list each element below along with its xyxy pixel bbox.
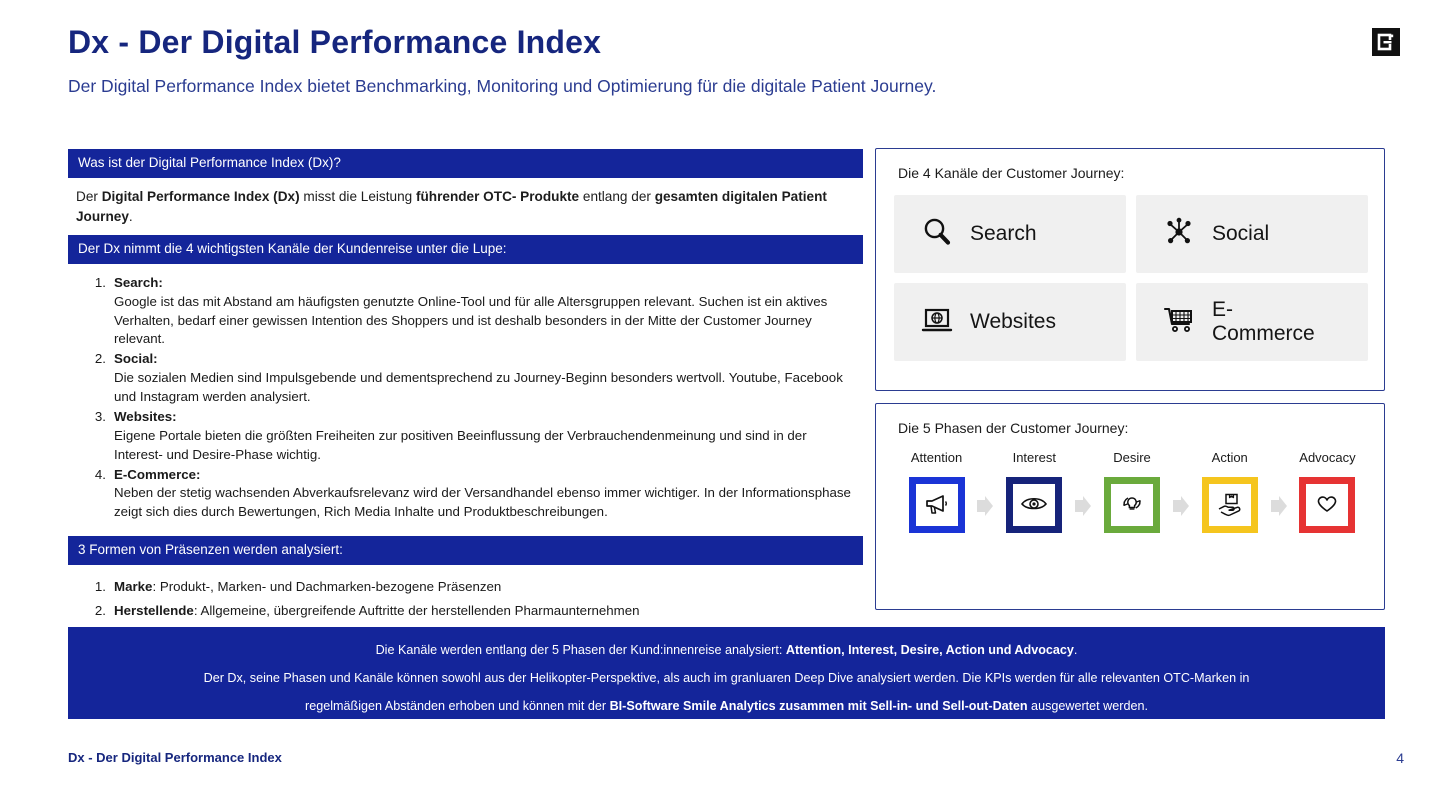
channels-description-list: 1. Search: Google ist das mit Abstand am… xyxy=(68,264,863,529)
banner-line-2: Der Dx, seine Phasen und Kanäle können s… xyxy=(68,664,1385,692)
channels-panel: Die 4 Kanäle der Customer Journey: Searc… xyxy=(875,148,1385,391)
left-content-column: Was ist der Digital Performance Index (D… xyxy=(68,149,863,649)
channel-cell-ecommerce[interactable]: E- Commerce xyxy=(1136,283,1368,361)
channel-label: Websites xyxy=(970,310,1056,334)
section-bar-three-presences: 3 Formen von Präsenzen werden analysiert… xyxy=(68,536,863,565)
list-number: 1. xyxy=(84,274,106,293)
channel-label: Social xyxy=(1212,222,1269,246)
phases-row: Attention Interest xyxy=(876,436,1384,533)
phase-box xyxy=(1006,477,1062,533)
phase-box xyxy=(1299,477,1355,533)
phases-panel-title: Die 5 Phasen der Customer Journey: xyxy=(876,404,1384,436)
phase-item-advocacy[interactable]: Advocacy xyxy=(1289,450,1366,533)
phase-box xyxy=(1202,477,1258,533)
list-item-desc: : Produkt-, Marken- und Dachmarken-bezog… xyxy=(152,579,501,594)
section-bar-four-channels: Der Dx nimmt die 4 wichtigsten Kanäle de… xyxy=(68,235,863,264)
page-subtitle: Der Digital Performance Index bietet Ben… xyxy=(68,76,936,97)
list-number: 2. xyxy=(84,350,106,369)
banner-l3-a: regelmäßigen Abständen erhoben und könne… xyxy=(305,699,610,713)
channel-label: E- Commerce xyxy=(1212,298,1315,345)
section-bar-what-is-dx: Was ist der Digital Performance Index (D… xyxy=(68,149,863,178)
list-item-heading: Social: xyxy=(114,350,859,369)
phase-label: Attention xyxy=(898,450,975,465)
arrow-right-icon xyxy=(975,495,996,533)
banner-l3-c: ausgewertet werden. xyxy=(1028,699,1148,713)
banner-line-1: Die Kanäle werden entlang der 5 Phasen d… xyxy=(68,636,1385,664)
phase-box xyxy=(909,477,965,533)
list-item-body: Eigene Portale bieten die größten Freihe… xyxy=(114,427,859,465)
hand-package-icon xyxy=(1216,489,1244,522)
list-item-heading: E-Commerce: xyxy=(114,466,859,485)
lightbulb-refresh-icon xyxy=(1118,489,1146,522)
list-number: 3. xyxy=(84,408,106,427)
channel-cell-social[interactable]: Social xyxy=(1136,195,1368,273)
summary-banner: Die Kanäle werden entlang der 5 Phasen d… xyxy=(68,627,1385,719)
list-item-desc: : Allgemeine, übergreifende Auftritte de… xyxy=(194,603,640,618)
arrow-right-icon xyxy=(1073,495,1094,533)
laptop-globe-icon xyxy=(920,303,954,342)
list-item-body: Google ist das mit Abstand am häufigsten… xyxy=(114,293,859,350)
arrow-right-icon xyxy=(1171,495,1192,533)
intro-paragraph: Der Digital Performance Index (Dx) misst… xyxy=(68,178,863,234)
list-item-body: Neben der stetig wachsenden Abverkaufsre… xyxy=(114,484,859,522)
footer-title: Dx - Der Digital Performance Index xyxy=(68,750,282,765)
channel-label: Search xyxy=(970,222,1037,246)
network-nodes-icon xyxy=(1162,215,1196,254)
list-item: 1.Marke: Produkt-, Marken- und Dachmarke… xyxy=(78,575,859,598)
brand-s-logo-icon xyxy=(1372,28,1400,56)
phase-item-desire[interactable]: Desire xyxy=(1093,450,1170,533)
channels-grid: Search xyxy=(876,181,1384,377)
channel-cell-search[interactable]: Search xyxy=(894,195,1126,273)
spacer xyxy=(68,529,863,536)
list-number: 1. xyxy=(84,575,106,598)
arrow-right-icon xyxy=(1268,495,1289,533)
phase-box xyxy=(1104,477,1160,533)
list-item: 4. E-Commerce: Neben der stetig wachsend… xyxy=(78,466,859,523)
intro-t4: . xyxy=(129,209,133,224)
list-item-body: Die sozialen Medien sind Impulsgebende u… xyxy=(114,369,859,407)
page-number: 4 xyxy=(1396,750,1404,766)
intro-b2: führender OTC- Produkte xyxy=(416,189,579,204)
intro-t3: entlang der xyxy=(579,189,655,204)
banner-l1-c: . xyxy=(1074,643,1078,657)
phase-item-attention[interactable]: Attention xyxy=(898,450,975,533)
list-number: 4. xyxy=(84,466,106,485)
megaphone-icon xyxy=(923,489,951,522)
banner-l1-b: Attention, Interest, Desire, Action und … xyxy=(786,643,1074,657)
banner-l3-b: BI-Software Smile Analytics zusammen mit… xyxy=(610,699,1028,713)
intro-b1: Digital Performance Index (Dx) xyxy=(102,189,300,204)
shopping-cart-icon xyxy=(1162,303,1196,342)
phase-label: Action xyxy=(1191,450,1268,465)
phases-panel: Die 5 Phasen der Customer Journey: Atten… xyxy=(875,403,1385,610)
magnifier-icon xyxy=(920,215,954,254)
eye-icon xyxy=(1020,489,1048,522)
heart-icon xyxy=(1313,489,1341,522)
list-item: 3. Websites: Eigene Portale bieten die g… xyxy=(78,408,859,465)
list-item-heading: Websites: xyxy=(114,408,859,427)
channel-cell-websites[interactable]: Websites xyxy=(894,283,1126,361)
phase-item-action[interactable]: Action xyxy=(1191,450,1268,533)
list-item-term: Herstellende xyxy=(114,603,194,618)
list-item: 2. Social: Die sozialen Medien sind Impu… xyxy=(78,350,859,407)
intro-t1: Der xyxy=(76,189,102,204)
phase-item-interest[interactable]: Interest xyxy=(996,450,1073,533)
channels-panel-title: Die 4 Kanäle der Customer Journey: xyxy=(876,149,1384,181)
list-item: 2.Herstellende: Allgemeine, übergreifend… xyxy=(78,599,859,622)
intro-t2: misst die Leistung xyxy=(300,189,416,204)
banner-l1-a: Die Kanäle werden entlang der 5 Phasen d… xyxy=(376,643,786,657)
list-item: 1. Search: Google ist das mit Abstand am… xyxy=(78,274,859,350)
phase-label: Desire xyxy=(1093,450,1170,465)
list-item-heading: Search: xyxy=(114,274,859,293)
page-title: Dx - Der Digital Performance Index xyxy=(68,24,601,61)
banner-line-3: regelmäßigen Abständen erhoben und könne… xyxy=(68,692,1385,720)
list-item-term: Marke xyxy=(114,579,152,594)
phase-label: Advocacy xyxy=(1289,450,1366,465)
phase-label: Interest xyxy=(996,450,1073,465)
list-number: 2. xyxy=(84,599,106,622)
